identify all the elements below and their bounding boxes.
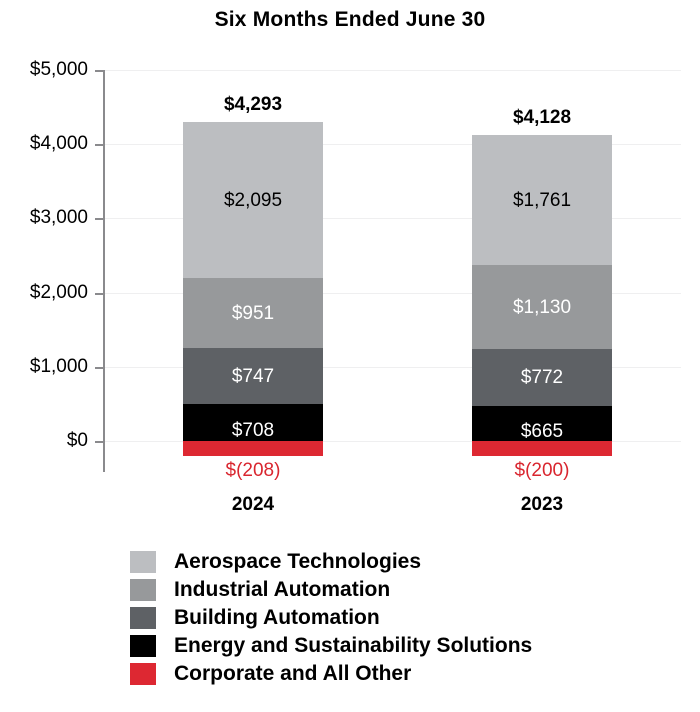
y-axis-tick-label: $0 xyxy=(0,430,88,452)
legend-item[interactable]: Industrial Automation xyxy=(130,576,532,604)
bar-segment: $747 xyxy=(183,348,323,403)
legend-swatch xyxy=(130,579,156,601)
bar-segment-negative xyxy=(472,441,612,456)
bar-total-label: $4,293 xyxy=(183,94,323,116)
y-axis-tick-label: $1,000 xyxy=(0,356,88,378)
legend-item[interactable]: Energy and Sustainability Solutions xyxy=(130,632,532,660)
legend-label: Industrial Automation xyxy=(174,578,390,602)
bar-segment: $1,130 xyxy=(472,265,612,349)
legend-item[interactable]: Building Automation xyxy=(130,604,532,632)
legend-label: Aerospace Technologies xyxy=(174,550,421,574)
legend-swatch xyxy=(130,663,156,685)
legend-label: Corporate and All Other xyxy=(174,662,411,686)
legend-item[interactable]: Corporate and All Other xyxy=(130,660,532,688)
bar-segment: $1,761 xyxy=(472,135,612,266)
y-axis-tick-label: $2,000 xyxy=(0,282,88,304)
legend-label: Building Automation xyxy=(174,606,380,630)
y-axis-tick-label: $3,000 xyxy=(0,207,88,229)
chart-legend: Aerospace TechnologiesIndustrial Automat… xyxy=(130,548,532,688)
y-axis-line xyxy=(103,70,105,472)
legend-swatch xyxy=(130,551,156,573)
legend-swatch xyxy=(130,607,156,629)
stacked-bar-chart: Six Months Ended June 30 $0$1,000$2,000$… xyxy=(0,0,700,712)
legend-label: Energy and Sustainability Solutions xyxy=(174,634,532,658)
plot-area: $0$1,000$2,000$3,000$4,000$5,000 $(208)$… xyxy=(0,0,700,520)
legend-swatch xyxy=(130,635,156,657)
bar-stack: $1,761$1,130$772$665 xyxy=(472,0,612,520)
bar-segment: $2,095 xyxy=(183,122,323,277)
bar-segment: $951 xyxy=(183,278,323,349)
x-axis-category-label: 2024 xyxy=(183,494,323,516)
y-axis-tick-label: $5,000 xyxy=(0,59,88,81)
bar-segment: $772 xyxy=(472,349,612,406)
legend-item[interactable]: Aerospace Technologies xyxy=(130,548,532,576)
y-axis-tick-label: $4,000 xyxy=(0,133,88,155)
bar-total-label: $4,128 xyxy=(472,107,612,129)
x-axis-category-label: 2023 xyxy=(472,494,612,516)
bar-stack: $2,095$951$747$708 xyxy=(183,0,323,520)
bar-segment-negative xyxy=(183,441,323,456)
